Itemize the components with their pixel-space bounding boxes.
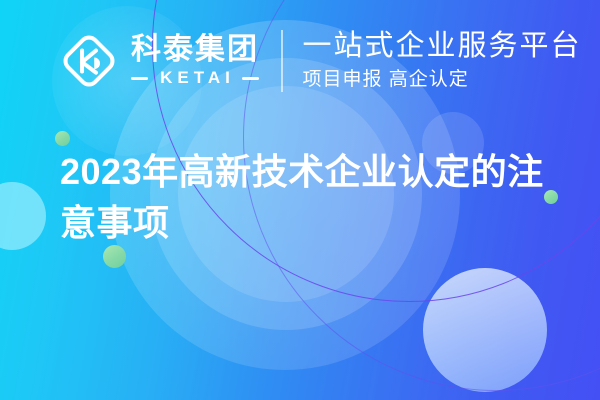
tagline-block: 一站式企业服务平台 项目申报 高企认定 xyxy=(303,30,582,92)
brand-rule-left xyxy=(131,77,148,80)
tagline-sub: 项目申报 高企认定 xyxy=(303,68,469,92)
brand-lockup: 科泰集团 KETAI xyxy=(60,32,259,90)
promo-banner: 科泰集团 KETAI 一站式企业服务平台 项目申报 高企认定 2023年高新技术… xyxy=(0,0,600,400)
brand-wordmark: 科泰集团 KETAI xyxy=(131,34,259,89)
tagline-main: 一站式企业服务平台 xyxy=(303,30,582,63)
brand-name-en-row: KETAI xyxy=(131,68,259,88)
green-dot-upper-left xyxy=(55,131,70,146)
bubble-right-circle xyxy=(423,268,547,392)
page-title: 2023年高新技术企业认定的注意事项 xyxy=(60,146,560,248)
banner-header: 科泰集团 KETAI 一站式企业服务平台 项目申报 高企认定 xyxy=(0,0,600,122)
green-dot-mid-left xyxy=(103,245,126,268)
brand-rule-right xyxy=(242,77,259,80)
header-divider xyxy=(281,30,283,92)
bubble-left-circle xyxy=(0,182,46,250)
ketai-diamond-logo-icon xyxy=(60,32,118,90)
brand-name-en: KETAI xyxy=(155,68,235,88)
brand-name-cn: 科泰集团 xyxy=(131,34,259,66)
